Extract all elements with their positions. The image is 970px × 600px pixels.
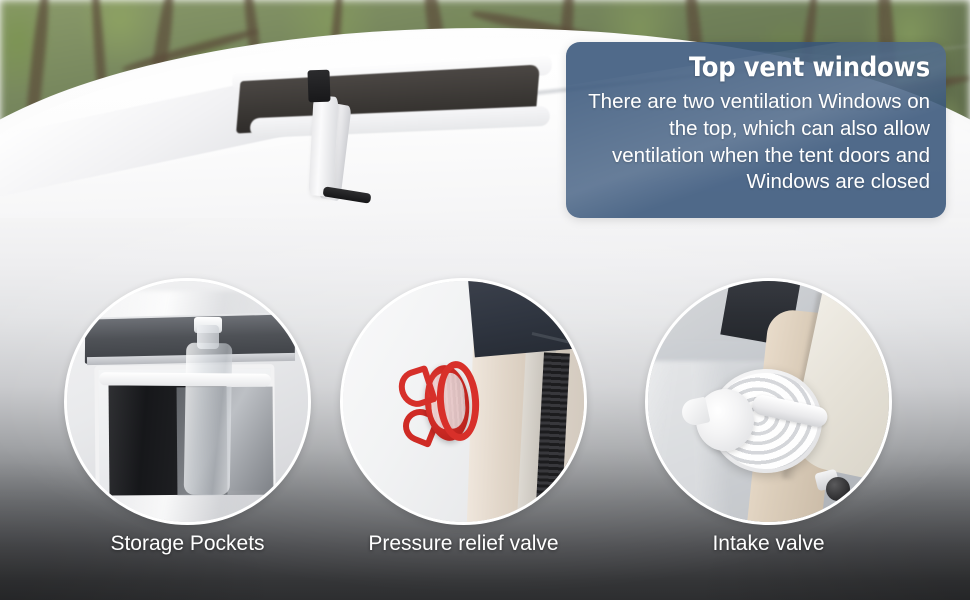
storage-pocket-photo xyxy=(64,278,311,525)
callout-body-text: There are two ventilation Windows on the… xyxy=(580,89,930,196)
feature-caption-storage-pockets: Storage Pockets xyxy=(64,531,311,556)
black-knob xyxy=(826,477,850,501)
pressure-relief-valve-photo xyxy=(340,278,587,525)
feature-intake-valve: Intake valve xyxy=(645,278,892,525)
tent-navy-top-panel xyxy=(468,278,587,357)
callout-title: Top vent windows xyxy=(580,54,930,82)
water-bottle xyxy=(184,343,233,496)
infographic-page: Top vent windows There are two ventilati… xyxy=(0,0,970,600)
pocket-zipper-trim xyxy=(99,372,271,387)
feature-pressure-relief-valve: Pressure relief valve xyxy=(340,278,587,525)
vent-strap xyxy=(308,95,338,197)
feature-storage-pockets: Storage Pockets xyxy=(64,278,311,525)
callout-box: Top vent windows There are two ventilati… xyxy=(566,42,946,218)
feature-caption-pressure-relief-valve: Pressure relief valve xyxy=(340,531,587,556)
vent-velcro-tab xyxy=(307,70,330,103)
feature-caption-intake-valve: Intake valve xyxy=(645,531,892,556)
intake-valve-photo xyxy=(645,278,892,525)
